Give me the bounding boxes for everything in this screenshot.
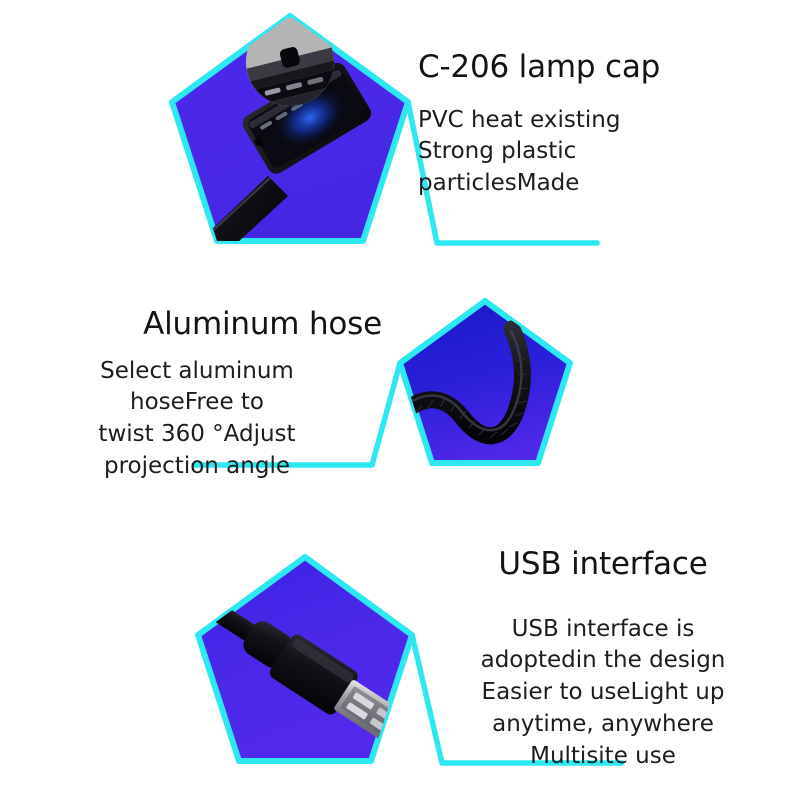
feature-body: USB interface is adoptedin the design Ea… [414,614,792,773]
body-line: Select aluminum [12,356,382,388]
body-line: adoptedin the design [414,645,792,677]
body-line: PVC heat existing [418,105,790,137]
body-line: anytime, anywhere [414,709,792,741]
aluminum-hose-text-block: Aluminum hose Select aluminum hoseFree t… [12,307,382,483]
feature-body: PVC heat existing Strong plastic particl… [418,105,790,200]
lamp-cap-text-block: C-206 lamp cap PVC heat existing Strong … [418,50,790,200]
feature-heading: USB interface [414,547,792,582]
body-line: Easier to useLight up [414,677,792,709]
body-line: particlesMade [418,168,790,200]
body-line: Multisite use [414,741,792,773]
body-line: projection angle [12,451,382,483]
feature-section-usb-interface: USB interface USB interface is adoptedin… [0,535,800,800]
feature-section-lamp-cap: C-206 lamp cap PVC heat existing Strong … [0,0,800,280]
body-line: Strong plastic [418,136,790,168]
feature-body: Select aluminum hoseFree to twist 360 °A… [12,356,382,483]
usb-interface-text-block: USB interface USB interface is adoptedin… [414,547,792,772]
feature-heading: Aluminum hose [12,307,382,342]
feature-heading: C-206 lamp cap [418,50,790,85]
body-line: hoseFree to [12,387,382,419]
body-line: USB interface is [414,614,792,646]
infographic-canvas: C-206 lamp cap PVC heat existing Strong … [0,0,800,800]
body-line: twist 360 °Adjust [12,419,382,451]
feature-section-aluminum-hose: Aluminum hose Select aluminum hoseFree t… [0,285,800,535]
